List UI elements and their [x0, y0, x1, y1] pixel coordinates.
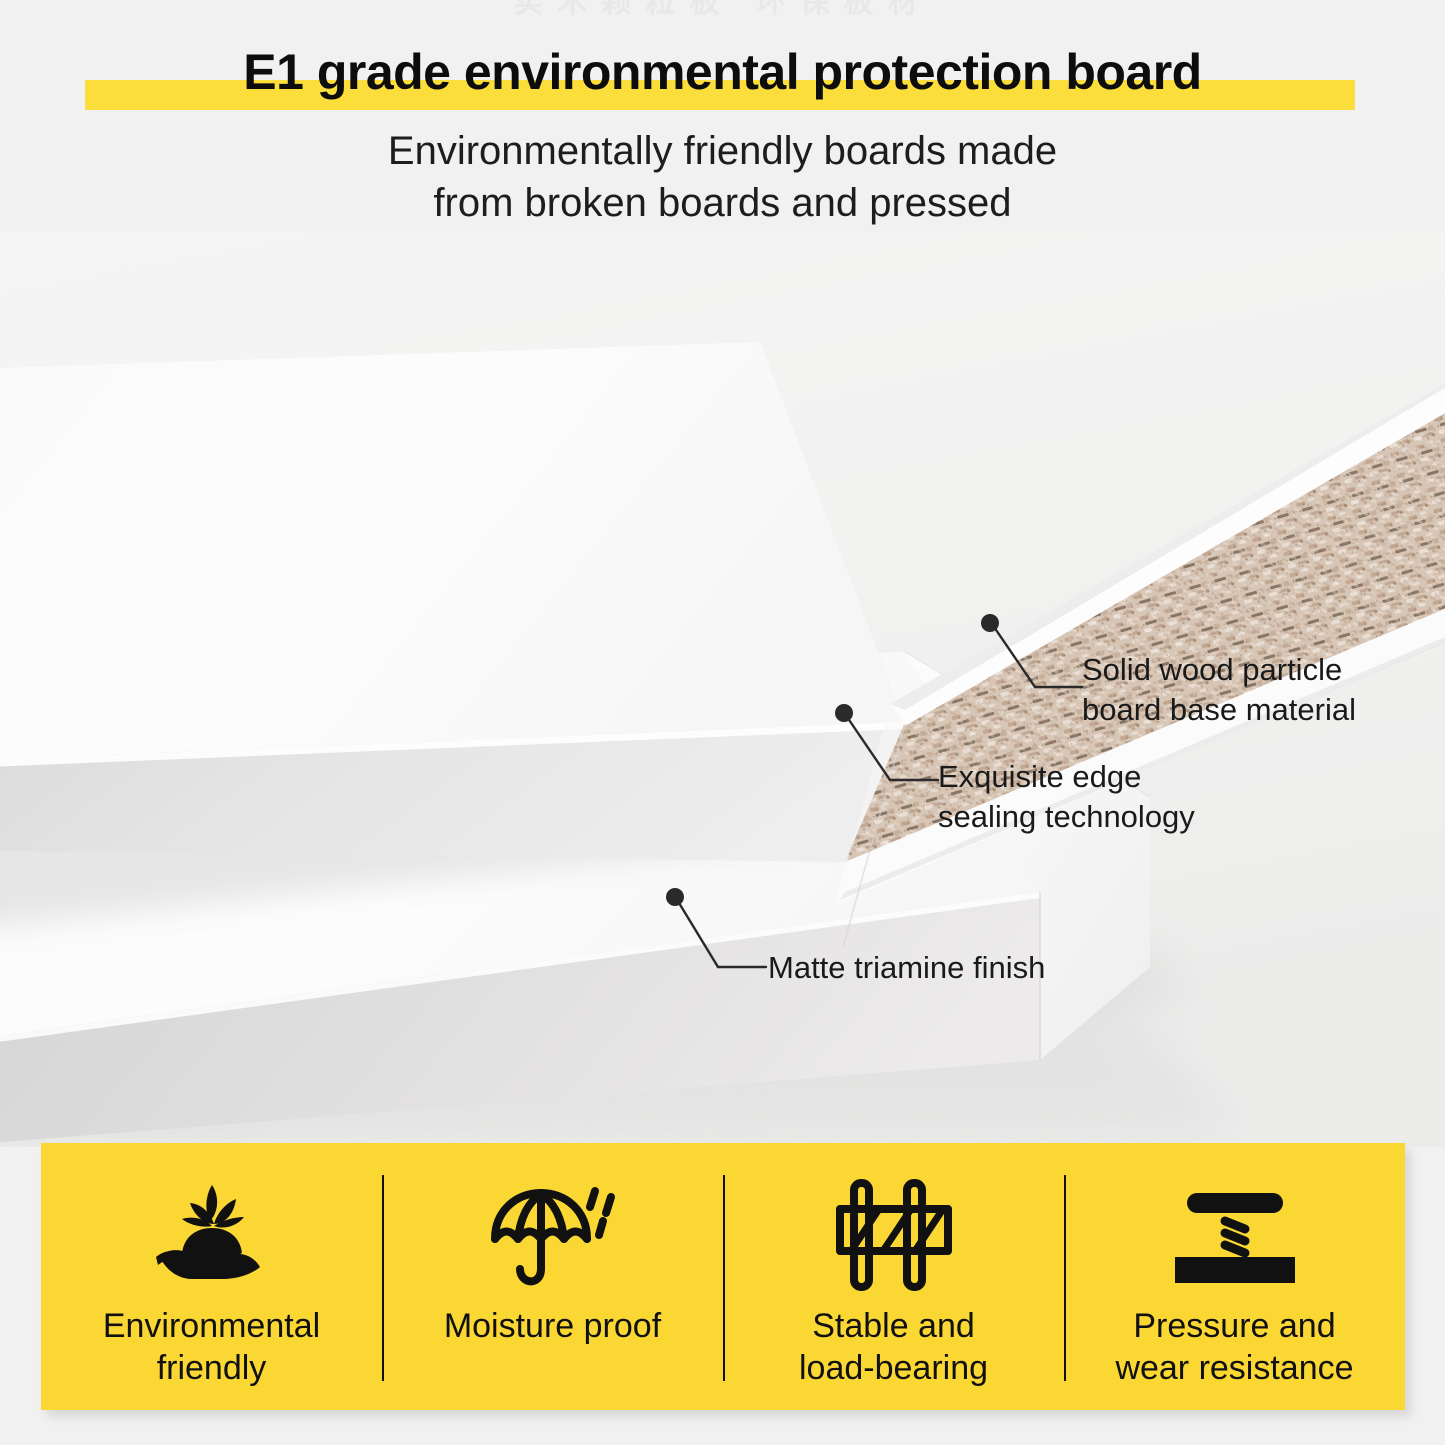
ghost-top-text: 实木颗粒板 环保板材 [0, 0, 1445, 20]
feature-bar: Environmental friendly [41, 1143, 1405, 1410]
callout-label-edge: Exquisite edge sealing technology [938, 757, 1195, 837]
feature-stable-load-bearing: Stable and load-bearing [723, 1143, 1064, 1410]
callout-dot-edge [835, 704, 853, 722]
callout-particle-line-1: Solid wood particle [1082, 650, 1356, 690]
press-spring-icon [1173, 1177, 1297, 1293]
callout-label-matte: Matte triamine finish [768, 948, 1045, 988]
hand-sprout-icon [146, 1177, 278, 1293]
callout-edge-line-1: Exquisite edge [938, 757, 1195, 797]
callout-edge-line-2: sealing technology [938, 797, 1195, 837]
callout-matte-line-1: Matte triamine finish [768, 948, 1045, 988]
page-subtitle: Environmentally friendly boards made fro… [0, 125, 1445, 229]
callout-particle-line-2: board base material [1082, 690, 1356, 730]
feature-label-moisture-proof: Moisture proof [444, 1305, 661, 1347]
feature-environmental-friendly: Environmental friendly [41, 1143, 382, 1410]
umbrella-rain-icon [483, 1177, 623, 1293]
subtitle-line-2: from broken boards and pressed [0, 177, 1445, 229]
feature-label-pressure-wear-resistance: Pressure and wear resistance [1115, 1305, 1353, 1389]
subtitle-line-1: Environmentally friendly boards made [0, 125, 1445, 177]
feature-moisture-proof: Moisture proof [382, 1143, 723, 1410]
barrier-icon [835, 1177, 953, 1293]
page-title: E1 grade environmental protection board [0, 36, 1445, 108]
callout-dot-matte [666, 888, 684, 906]
feature-label-stable-load-bearing: Stable and load-bearing [799, 1305, 988, 1389]
feature-pressure-wear-resistance: Pressure and wear resistance [1064, 1143, 1405, 1410]
product-infographic: 实木颗粒板 环保板材 E1 grade environmental protec… [0, 0, 1445, 1445]
feature-label-environmental-friendly: Environmental friendly [103, 1305, 320, 1389]
callout-label-particle: Solid wood particle board base material [1082, 650, 1356, 730]
header-title-block: E1 grade environmental protection board [0, 36, 1445, 108]
callout-dot-particle [981, 614, 999, 632]
